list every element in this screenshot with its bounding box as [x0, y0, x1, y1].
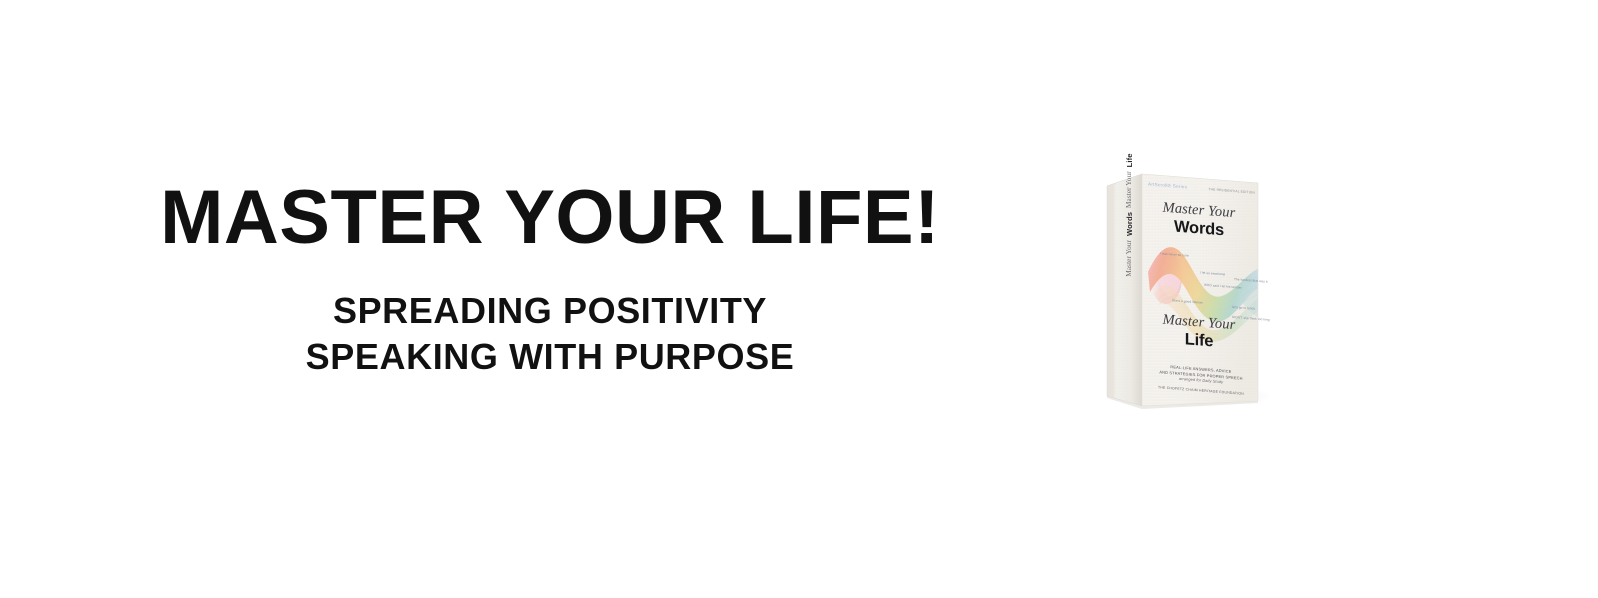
- headline-block: MASTER YOUR LIFE! SPREADING POSITIVITY S…: [0, 178, 1100, 380]
- promo-banner: MASTER YOUR LIFE! SPREADING POSITIVITY S…: [0, 0, 1598, 598]
- page-title: MASTER YOUR LIFE!: [0, 178, 1100, 258]
- book-cover-image: Master Your Words Master Your Life ArtSc…: [1098, 160, 1288, 420]
- subtitle-line-2: SPEAKING WITH PURPOSE: [0, 334, 1100, 380]
- book-3d-illustration: [1098, 160, 1288, 420]
- subtitle-line-1: SPREADING POSITIVITY: [0, 288, 1100, 334]
